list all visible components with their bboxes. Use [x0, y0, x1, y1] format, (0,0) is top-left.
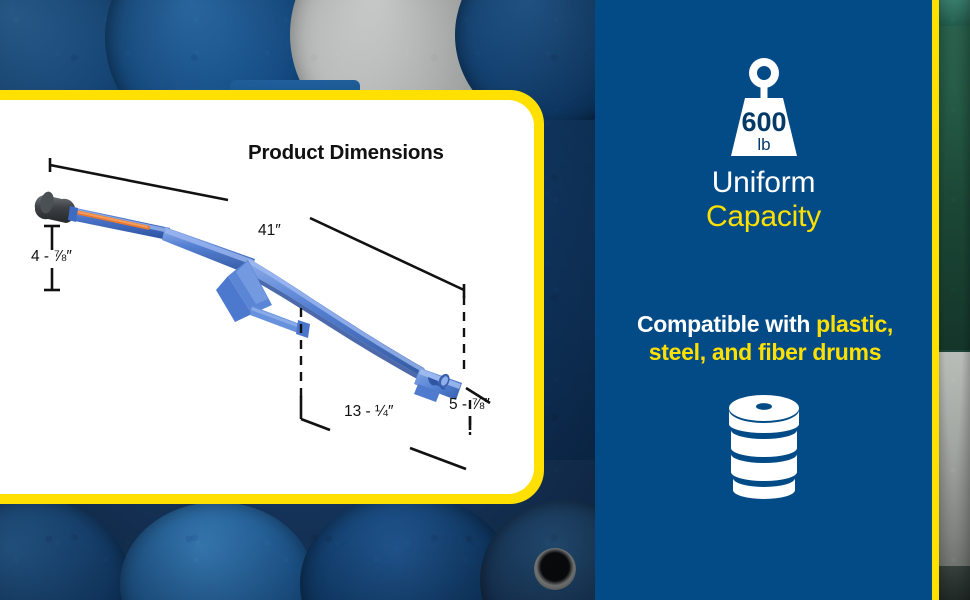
product-illustration [35, 190, 462, 402]
compatibility-text: Compatible with plastic, steel, and fibe… [615, 310, 915, 366]
capacity-block: 600 lb Uniform Capacity [595, 52, 932, 234]
dimension-label-overall-length: 41″ [258, 222, 281, 240]
photo-vignette [937, 0, 970, 600]
dimension-label-base-length: 13 - ¼″ [344, 403, 393, 421]
capacity-label-capacity: Capacity [595, 200, 932, 234]
dimension-label-lip-width: 5 - ⅞″ [449, 396, 490, 414]
capacity-label-uniform: Uniform [595, 166, 932, 200]
compatibility-prefix: Compatible with [637, 311, 816, 337]
drum-icon [721, 392, 807, 504]
panel-yellow-stripe [932, 0, 939, 600]
product-dimensions-diagram [0, 100, 540, 494]
dimension-label-handle-height: 4 - ⅞″ [31, 248, 72, 266]
background-photo-right [937, 0, 970, 600]
capacity-unit: lb [757, 135, 770, 154]
weight-icon: 600 lb [723, 52, 805, 162]
capacity-amount: 600 [741, 107, 786, 137]
drum-icon-wrap [595, 392, 932, 504]
infographic-stage: 600 lb Uniform Capacity Compatible with … [0, 0, 970, 600]
